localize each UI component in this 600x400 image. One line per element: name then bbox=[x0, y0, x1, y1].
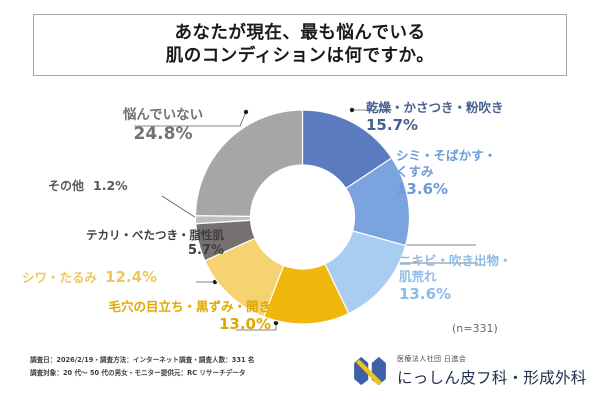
survey-footnote-line-2: 調査対象：20 代〜 50 代の男女・モニター提供元：RC リサーチデータ bbox=[30, 367, 330, 380]
label-dry-text: 乾燥・かさつき・粉吹き bbox=[366, 100, 504, 116]
sample-size-note: (n=331) bbox=[452, 322, 498, 335]
label-none: 悩んでいない 24.8% bbox=[86, 107, 240, 146]
label-pore: 毛穴の目立ち・黒ずみ・開き 13.0% bbox=[37, 299, 271, 334]
logo-mark-icon bbox=[352, 356, 388, 386]
label-wrinkle: シワ・たるみ 12.4% bbox=[22, 268, 157, 287]
label-wrinkle-pct: 12.4% bbox=[105, 268, 157, 287]
label-none-text: 悩んでいない bbox=[86, 107, 240, 124]
label-oily-pct: 5.7% bbox=[34, 243, 224, 260]
label-spot-pct: 13.6% bbox=[396, 180, 496, 199]
label-pore-pct: 13.0% bbox=[37, 315, 271, 334]
label-other-pct: 1.2% bbox=[93, 178, 128, 194]
survey-footnote: 調査日：2026/2/19・調査方法：インターネット調査・調査人数：331 名 … bbox=[30, 354, 330, 380]
label-dry-pct: 15.7% bbox=[366, 116, 504, 135]
label-wrinkle-text: シワ・たるみ bbox=[22, 270, 97, 286]
label-acne: ニキビ・吹き出物・ 肌荒れ 13.6% bbox=[399, 253, 512, 304]
clinic-logo: 医療法人社団 日進会 にっしん皮フ科・形成外科 bbox=[352, 354, 587, 388]
label-spot-text-2: くすみ bbox=[396, 164, 496, 180]
label-spot-text-1: シミ・そばかす・ bbox=[396, 148, 496, 164]
label-acne-pct: 13.6% bbox=[399, 285, 512, 304]
label-acne-text-2: 肌荒れ bbox=[399, 269, 512, 285]
label-acne-text-1: ニキビ・吹き出物・ bbox=[399, 253, 512, 269]
label-oily-text: テカリ・べたつき・脂性肌 bbox=[34, 228, 224, 243]
label-dry: 乾燥・かさつき・粉吹き 15.7% bbox=[366, 100, 504, 135]
label-none-pct: 24.8% bbox=[86, 124, 240, 146]
infographic-canvas: あなたが現在、最も悩んでいる 肌のコンディションは何ですか。 bbox=[0, 0, 600, 400]
page-title: あなたが現在、最も悩んでいる 肌のコンディションは何ですか。 bbox=[33, 14, 567, 76]
logo-org-type: 医療法人社団 日進会 bbox=[397, 354, 587, 364]
logo-name: にっしん皮フ科・形成外科 bbox=[397, 366, 587, 388]
label-oily: テカリ・べたつき・脂性肌 5.7% bbox=[34, 228, 224, 259]
title-line-1: あなたが現在、最も悩んでいる bbox=[174, 22, 425, 45]
label-other-text: その他 bbox=[48, 179, 84, 194]
label-spot: シミ・そばかす・ くすみ 13.6% bbox=[396, 148, 496, 199]
title-line-2: 肌のコンディションは何ですか。 bbox=[166, 45, 434, 68]
survey-footnote-line-1: 調査日：2026/2/19・調査方法：インターネット調査・調査人数：331 名 bbox=[30, 354, 330, 367]
label-other: その他 1.2% bbox=[48, 178, 128, 194]
label-pore-text: 毛穴の目立ち・黒ずみ・開き bbox=[37, 299, 271, 315]
